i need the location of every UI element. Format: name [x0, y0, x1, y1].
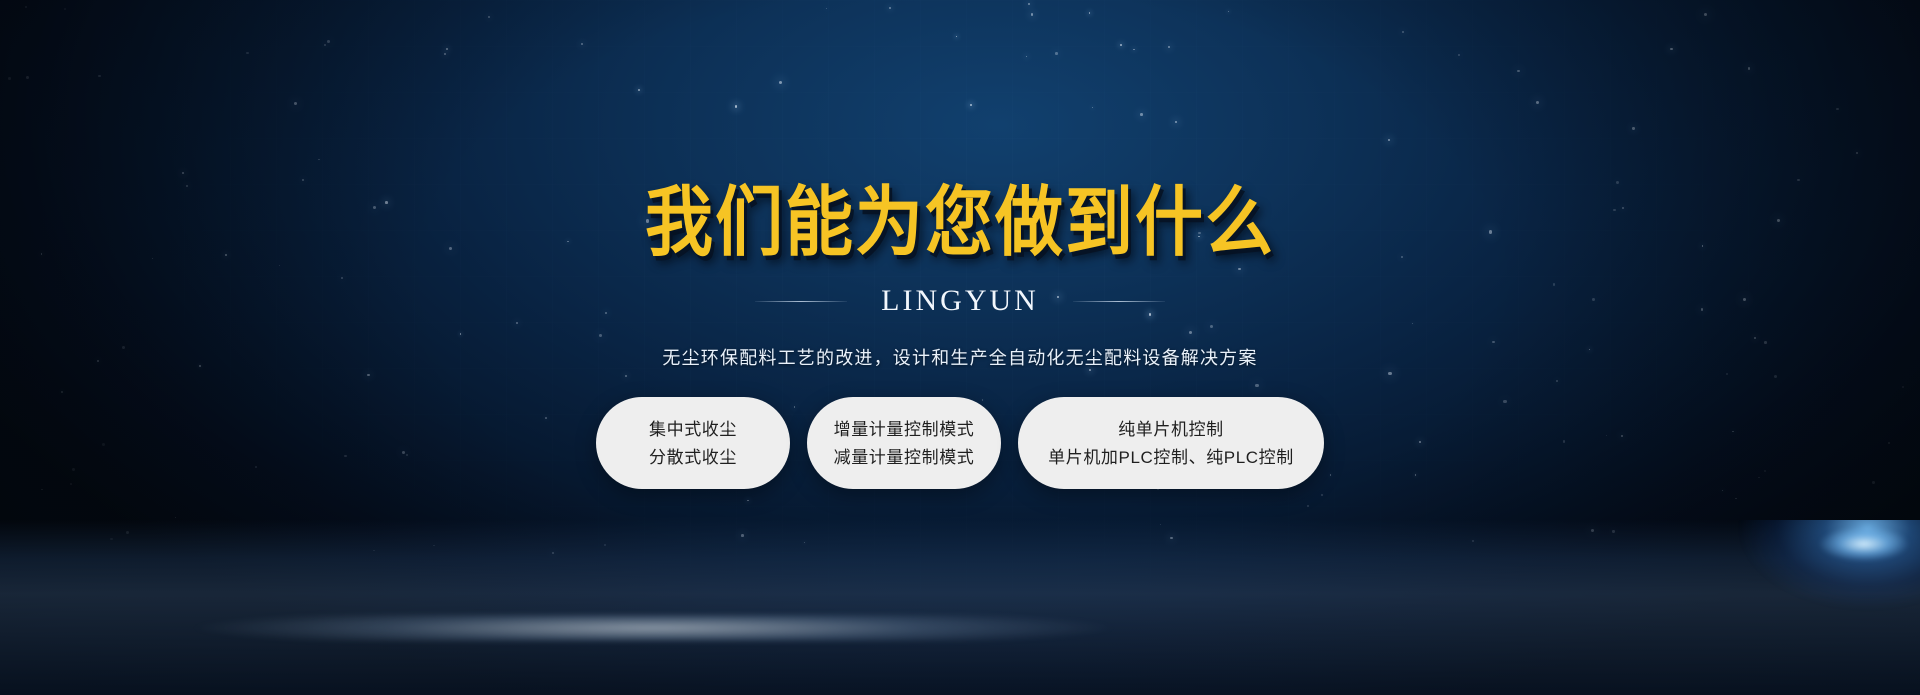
brand-row: LINGYUN [755, 284, 1165, 318]
feature-card-control-system[interactable]: 纯单片机控制 单片机加PLC控制、纯PLC控制 [1018, 397, 1324, 489]
feature-card-line-1: 增量计量控制模式 [834, 421, 975, 438]
feature-card-line-2: 分散式收尘 [649, 449, 737, 466]
divider-right [1073, 301, 1165, 302]
feature-card-dust-collection[interactable]: 集中式收尘 分散式收尘 [596, 397, 790, 489]
brand-name: LINGYUN [881, 284, 1039, 318]
banner-content: 我们能为您做到什么 LINGYUN 无尘环保配料工艺的改进，设计和生产全自动化无… [0, 0, 1920, 695]
feature-card-list: 集中式收尘 分散式收尘 增量计量控制模式 减量计量控制模式 纯单片机控制 单片机… [596, 397, 1324, 489]
feature-card-line-2: 减量计量控制模式 [834, 449, 975, 466]
feature-card-line-1: 纯单片机控制 [1118, 421, 1224, 438]
feature-card-line-1: 集中式收尘 [649, 421, 737, 438]
divider-left [755, 301, 847, 302]
feature-card-metering-mode[interactable]: 增量计量控制模式 减量计量控制模式 [807, 397, 1001, 489]
feature-card-line-2: 单片机加PLC控制、纯PLC控制 [1048, 449, 1294, 466]
hero-banner: 我们能为您做到什么 LINGYUN 无尘环保配料工艺的改进，设计和生产全自动化无… [0, 0, 1920, 695]
banner-description: 无尘环保配料工艺的改进，设计和生产全自动化无尘配料设备解决方案 [662, 344, 1257, 370]
page-title: 我们能为您做到什么 [645, 186, 1275, 262]
